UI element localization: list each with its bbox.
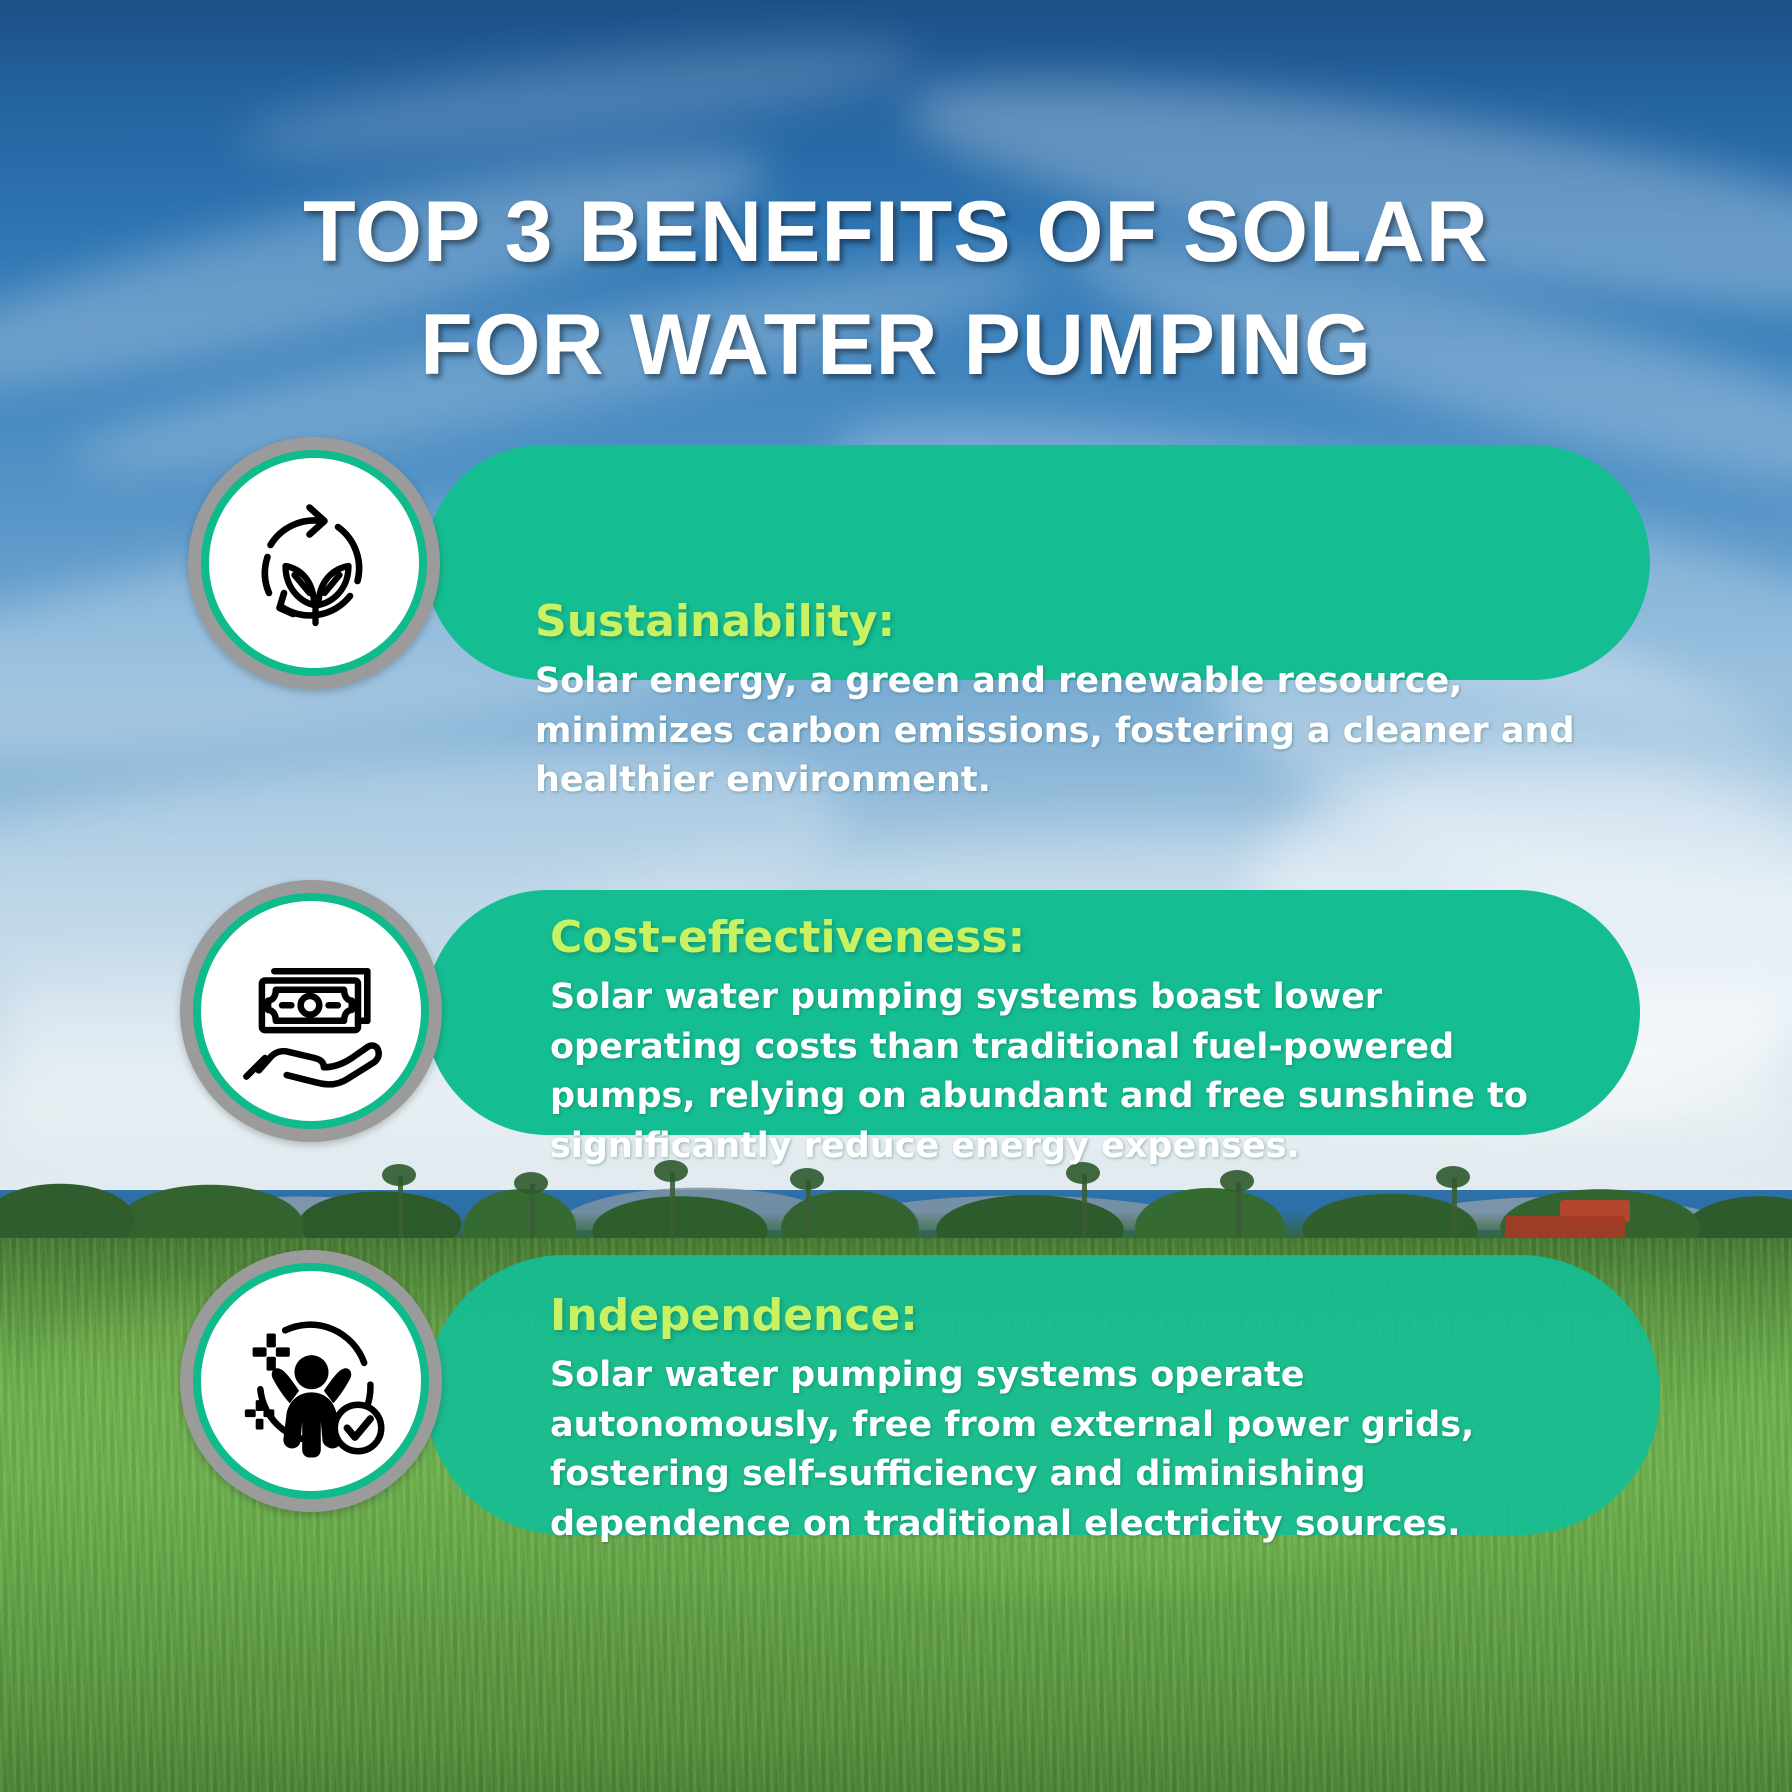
money-in-hand-icon (234, 934, 389, 1089)
benefit-body: Solar water pumping systems boast lower … (550, 973, 1550, 1172)
benefit-heading: Cost-effectiveness: (550, 912, 1550, 963)
benefit-heading: Sustainability: (535, 596, 1585, 647)
page-title: TOP 3 BENEFITS OF SOLAR FOR WATER PUMPIN… (0, 176, 1792, 403)
person-raised-arms-check-icon (234, 1304, 389, 1459)
benefit-body: Solar water pumping systems operate auto… (550, 1351, 1560, 1550)
benefit-icon-badge (180, 1250, 442, 1512)
benefit-text-block: Cost-effectiveness: Solar water pumping … (550, 912, 1550, 1172)
benefit-body: Solar energy, a green and renewable reso… (535, 657, 1585, 806)
badge-inner-ring (193, 1263, 429, 1499)
badge-disc (209, 458, 419, 668)
benefit-icon-badge (188, 437, 440, 689)
benefit-text-block: Sustainability: Solar energy, a green an… (535, 596, 1585, 806)
badge-disc (201, 901, 421, 1121)
benefit-heading: Independence: (550, 1290, 1560, 1341)
benefit-icon-badge (180, 880, 442, 1142)
palm-crown (514, 1172, 548, 1194)
page-title-line-2: FOR WATER PUMPING (0, 289, 1792, 403)
palm-crown (382, 1164, 416, 1186)
palm-crown (1220, 1170, 1254, 1192)
recycle-leaf-icon (239, 488, 389, 638)
benefit-text-block: Independence: Solar water pumping system… (550, 1290, 1560, 1550)
badge-inner-ring (193, 893, 429, 1129)
page-title-line-1: TOP 3 BENEFITS OF SOLAR (303, 184, 1489, 280)
badge-inner-ring (201, 450, 427, 676)
badge-disc (201, 1271, 421, 1491)
